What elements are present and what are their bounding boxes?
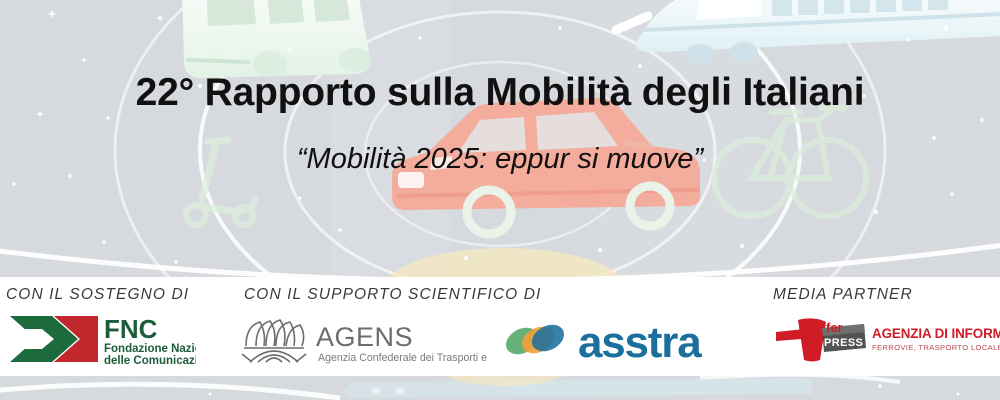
ferpress-subtagline: FERROVIE, TRASPORTO LOCALE E LOGISTICA: [872, 343, 1000, 352]
fnc-logo-subtitle-line1: Fondazione Nazionale: [104, 343, 196, 355]
ferpress-logo-art: fer PRESS AGENZIA DI INFORMAZIONE FERROV…: [768, 314, 1000, 366]
fnc-mark-icon: [10, 316, 98, 362]
fnc-logo[interactable]: FNC Fondazione Nazionale delle Comunicaz…: [8, 312, 196, 373]
hero-section: 22° Rapporto sulla Mobilità degli Italia…: [0, 0, 1000, 277]
asstra-logo-title: asstra: [578, 318, 702, 367]
ferpress-press-text: PRESS: [824, 337, 863, 349]
page-title: 22° Rapporto sulla Mobilità degli Italia…: [0, 70, 1000, 116]
agens-logo-title: AGENS: [316, 322, 413, 352]
ferpress-mark-icon: fer PRESS: [776, 318, 866, 361]
sponsor-group-supporto: CON IL SUPPORTO SCIENTIFICO DI: [244, 286, 541, 304]
sponsor-group-media: MEDIA PARTNER: [773, 286, 913, 304]
agens-eagle-icon: [242, 320, 306, 362]
sponsor-label-supporto: CON IL SUPPORTO SCIENTIFICO DI: [244, 286, 541, 304]
bus-illustration: [182, 0, 371, 78]
asstra-logo-art: asstra: [500, 315, 740, 367]
bottom-strip: [0, 376, 1000, 400]
fnc-logo-art: FNC Fondazione Nazionale delle Comunicaz…: [8, 312, 196, 368]
bottom-strip-art: [0, 376, 1000, 400]
ferpress-fer-text: fer: [826, 320, 843, 335]
agens-logo-art: AGENS Agenzia Confederale dei Trasporti …: [240, 316, 490, 368]
ferpress-tagline: AGENZIA DI INFORMAZIONE: [872, 326, 1000, 341]
sponsor-label-media: MEDIA PARTNER: [773, 286, 913, 304]
sponsor-group-sostegno: CON IL SOSTEGNO DI: [6, 286, 189, 304]
asstra-logo[interactable]: asstra: [500, 315, 740, 372]
fnc-logo-title: FNC: [104, 314, 158, 344]
conference-banner: 22° Rapporto sulla Mobilità degli Italia…: [0, 0, 1000, 400]
asstra-mark-icon: [501, 319, 568, 359]
agens-logo[interactable]: AGENS Agenzia Confederale dei Trasporti …: [240, 316, 490, 373]
title-block: 22° Rapporto sulla Mobilità degli Italia…: [0, 70, 1000, 177]
ferpress-logo[interactable]: fer PRESS AGENZIA DI INFORMAZIONE FERROV…: [768, 314, 1000, 371]
agens-logo-subtitle: Agenzia Confederale dei Trasporti e Serv…: [318, 352, 490, 364]
fnc-logo-subtitle-line2: delle Comunicazioni: [104, 355, 196, 367]
sponsor-label-sostegno: CON IL SOSTEGNO DI: [6, 286, 189, 304]
page-subtitle: “Mobilità 2025: eppur si muove”: [0, 116, 1000, 177]
